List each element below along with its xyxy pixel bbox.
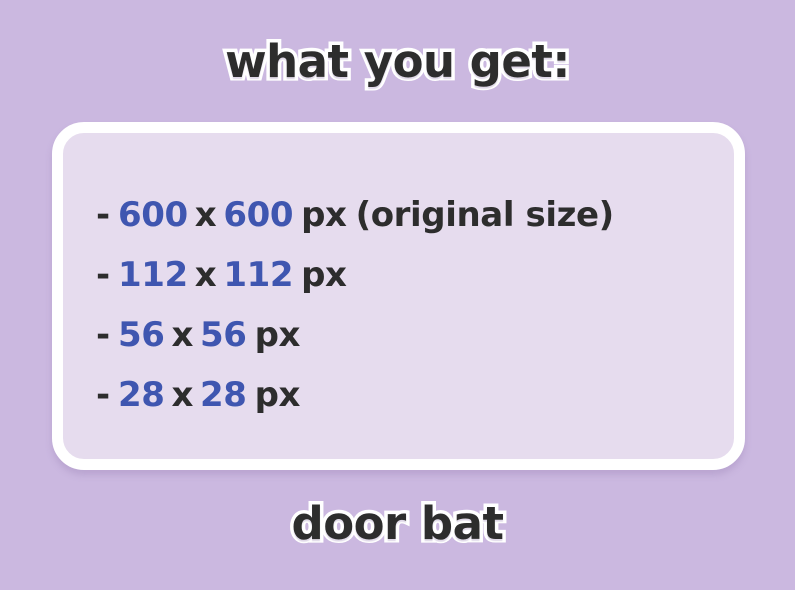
spec-height-value: 28 (200, 365, 247, 425)
list-item: - 600 x 600 px (original size) (96, 185, 734, 245)
specs-card-body: - 600 x 600 px (original size) - 112 x 1… (63, 133, 734, 459)
spec-list: - 600 x 600 px (original size) - 112 x 1… (96, 185, 734, 425)
spec-width-value: 28 (118, 365, 165, 425)
specs-card: - 600 x 600 px (original size) - 112 x 1… (52, 122, 745, 470)
spec-unit: px (293, 245, 346, 305)
spec-unit: px (293, 185, 346, 245)
list-bullet: - (96, 305, 118, 365)
spec-unit: px (247, 305, 300, 365)
list-item: - 28 x 28 px (96, 365, 734, 425)
brand-name: door bat (0, 496, 795, 552)
spec-width-value: 600 (118, 185, 188, 245)
spec-separator: x (165, 365, 201, 425)
spec-width-value: 56 (118, 305, 165, 365)
page-title: what you get: (0, 34, 795, 90)
spec-separator: x (188, 185, 224, 245)
spec-unit: px (247, 365, 300, 425)
list-bullet: - (96, 365, 118, 425)
spec-height-value: 600 (223, 185, 293, 245)
list-bullet: - (96, 245, 118, 305)
spec-note: (original size) (347, 185, 614, 245)
spec-separator: x (165, 305, 201, 365)
list-item: - 112 x 112 px (96, 245, 734, 305)
spec-height-value: 56 (200, 305, 247, 365)
list-bullet: - (96, 185, 118, 245)
spec-height-value: 112 (223, 245, 293, 305)
poster-canvas: what you get: - 600 x 600 px (original s… (0, 0, 795, 590)
spec-separator: x (188, 245, 224, 305)
list-item: - 56 x 56 px (96, 305, 734, 365)
spec-width-value: 112 (118, 245, 188, 305)
